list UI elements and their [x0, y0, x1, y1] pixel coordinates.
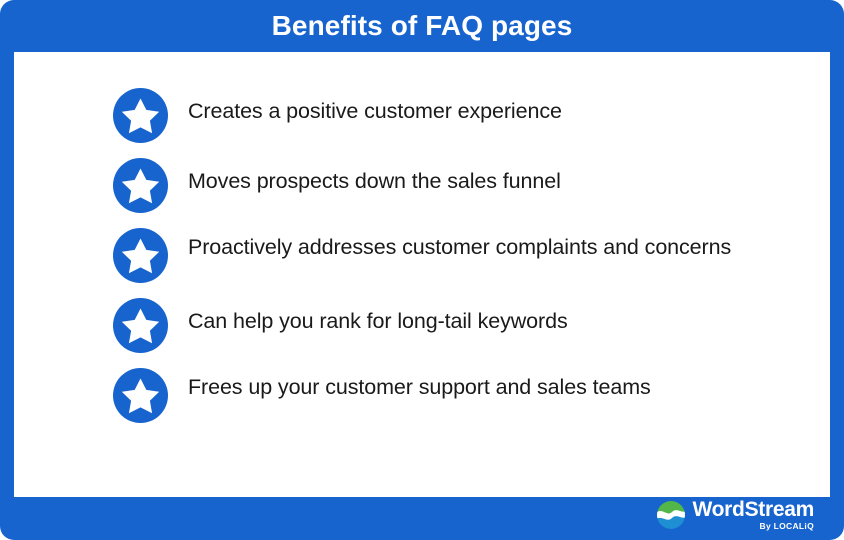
- list-item: Creates a positive customer experience: [113, 88, 803, 158]
- logo-wordmark: WordStream By LOCALiQ: [693, 499, 814, 531]
- wordstream-logo: WordStream By LOCALiQ: [656, 499, 814, 531]
- star-icon: [113, 158, 168, 213]
- star-icon: [113, 88, 168, 143]
- infographic-card: Benefits of FAQ pages Creates a positive…: [0, 0, 844, 540]
- list-item: Frees up your customer support and sales…: [113, 368, 803, 438]
- list-item: Can help you rank for long-tail keywords: [113, 298, 803, 368]
- benefit-text: Frees up your customer support and sales…: [188, 368, 733, 401]
- benefits-list: Creates a positive customer experience M…: [113, 88, 803, 438]
- wordstream-globe-icon: [656, 500, 686, 530]
- list-item: Moves prospects down the sales funnel: [113, 158, 803, 228]
- footer-bar: WordStream By LOCALiQ: [0, 497, 844, 540]
- content-panel: Creates a positive customer experience M…: [14, 52, 830, 497]
- benefit-text: Can help you rank for long-tail keywords: [188, 298, 803, 335]
- benefit-text: Proactively addresses customer complaint…: [188, 228, 733, 261]
- benefit-text: Creates a positive customer experience: [188, 88, 803, 125]
- benefit-text: Moves prospects down the sales funnel: [188, 158, 803, 195]
- star-icon: [113, 368, 168, 423]
- page-title: Benefits of FAQ pages: [272, 12, 573, 40]
- logo-name: WordStream: [693, 499, 814, 520]
- logo-subtitle: By LOCALiQ: [760, 522, 814, 531]
- header-bar: Benefits of FAQ pages: [0, 0, 844, 52]
- star-icon: [113, 228, 168, 283]
- list-item: Proactively addresses customer complaint…: [113, 228, 803, 298]
- star-icon: [113, 298, 168, 353]
